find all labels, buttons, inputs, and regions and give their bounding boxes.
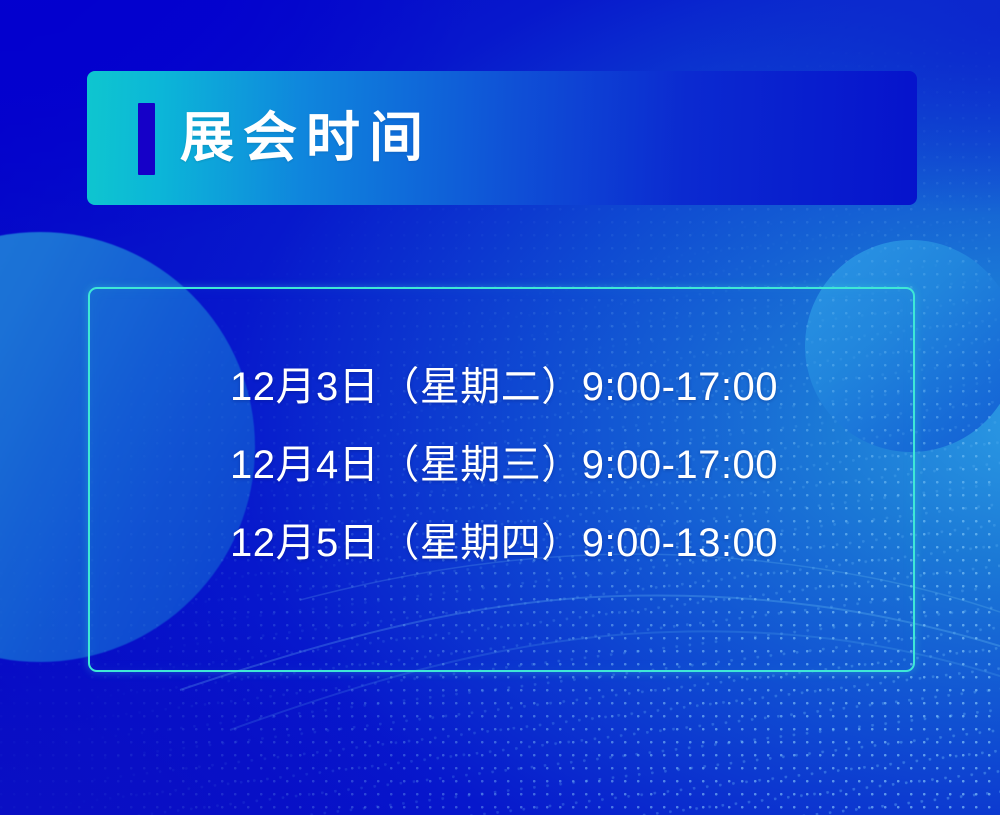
schedule-row: 12月5日（星期四）9:00-13:00 — [230, 523, 778, 563]
schedule-card: 12月3日（星期二）9:00-17:00 12月4日（星期三）9:00-17:0… — [88, 287, 915, 672]
header-accent-bar-icon — [138, 103, 155, 175]
schedule-list: 12月3日（星期二）9:00-17:00 12月4日（星期三）9:00-17:0… — [230, 367, 778, 563]
schedule-row: 12月3日（星期二）9:00-17:00 — [230, 367, 778, 407]
poster-canvas: 展会时间 12月3日（星期二）9:00-17:00 12月4日（星期三）9:00… — [0, 0, 1000, 815]
page-title: 展会时间 — [180, 71, 432, 205]
schedule-row: 12月4日（星期三）9:00-17:00 — [230, 445, 778, 485]
section-header-banner: 展会时间 — [87, 71, 917, 205]
